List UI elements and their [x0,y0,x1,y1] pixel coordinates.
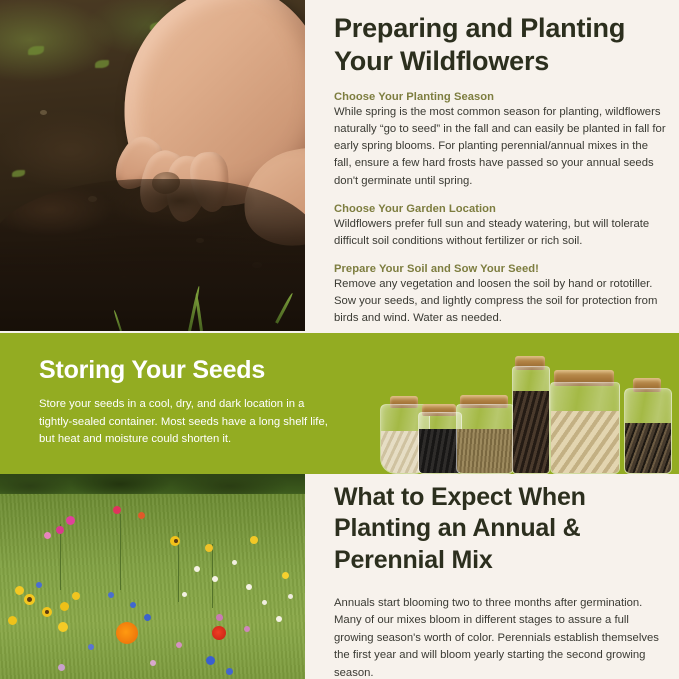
seed-fill-pumpkin [551,411,619,473]
planting-text-column: Preparing and Planting Your Wildflowers … [330,0,679,333]
flower [116,622,138,644]
flower [226,668,233,675]
flower [232,560,237,565]
flower [276,616,282,622]
expect-body: Annuals start blooming two to three mont… [334,595,665,679]
body-garden-location: Wildflowers prefer full sun and steady w… [334,216,667,250]
body-prepare-soil: Remove any vegetation and loosen the soi… [334,276,667,327]
flower [144,614,151,621]
seed-jar [418,402,460,474]
grass-field [0,494,305,679]
flower [45,610,49,614]
section-preparing-and-planting: Preparing and Planting Your Wildflowers … [0,0,679,333]
flower [60,602,69,611]
flower [288,594,293,599]
seed-fill-sunflower [625,423,671,473]
expect-text-column: What to Expect When Planting an Annual &… [330,474,679,679]
flower [205,544,213,552]
subheading-planting-season: Choose Your Planting Season [334,91,667,103]
flower [246,584,252,590]
section-storing-your-seeds: Storing Your Seeds Store your seeds in a… [0,333,679,474]
flower [56,526,64,534]
flower [212,576,218,582]
flower [44,532,51,539]
seed-fill-dark-grain [513,391,549,473]
glass-jar-body [550,382,620,474]
flower [58,664,65,671]
flower [244,626,250,632]
flower [36,582,42,588]
seed-jar [512,356,548,474]
seed-jar [456,388,512,474]
glass-jar-body [512,366,550,474]
body-planting-season: While spring is the most common season f… [334,104,667,190]
photo-hands-sowing-seeds [0,0,305,331]
flower [130,602,136,608]
soil-mound-foreground [0,179,305,331]
glass-jar-body [624,388,672,474]
subheading-garden-location: Choose Your Garden Location [334,203,667,215]
seed-fill-fine-brown [457,429,513,473]
expect-title: What to Expect When Planting an Annual &… [334,482,665,576]
seed-jar [550,370,618,474]
flower [150,660,156,666]
flower [182,592,187,597]
flower [113,506,121,514]
flower [27,597,32,602]
flower [58,622,68,632]
flower [206,656,215,665]
flower [176,642,182,648]
flower [88,644,94,650]
flower [138,512,145,519]
seed-fill-black [419,429,461,473]
flower [66,516,75,525]
photo-wildflower-meadow [0,474,305,679]
flower [174,539,178,543]
seed-jar [624,378,670,474]
flower [194,566,200,572]
flower [282,572,289,579]
glass-jar-body [456,404,514,474]
section-what-to-expect: What to Expect When Planting an Annual &… [0,474,679,679]
infographic-page: Preparing and Planting Your Wildflowers … [0,0,679,679]
storing-title: Storing Your Seeds [39,356,265,385]
flower [108,592,114,598]
page-title: Preparing and Planting Your Wildflowers [334,12,667,78]
flower [262,600,267,605]
subheading-prepare-soil: Prepare Your Soil and Sow Your Seed! [334,263,667,275]
flower [212,626,226,640]
flower [15,586,24,595]
flower [72,592,80,600]
flower [8,616,17,625]
flower [216,614,223,621]
photo-seed-jars [380,353,670,474]
storing-body: Store your seeds in a cool, dry, and dar… [39,396,335,449]
flower [250,536,258,544]
